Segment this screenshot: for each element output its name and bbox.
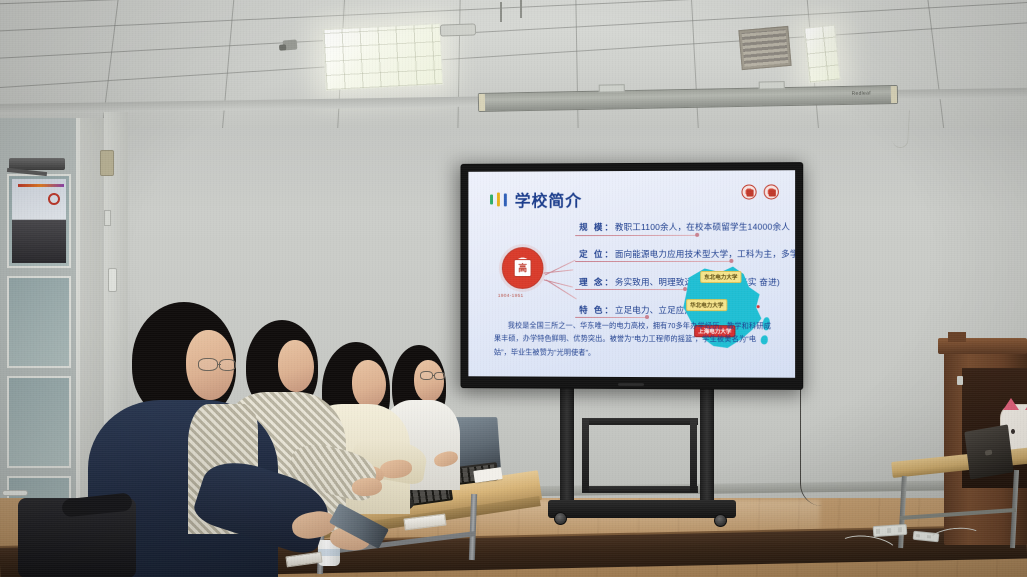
door-pane-top	[7, 174, 71, 268]
cart-side-rail	[582, 418, 589, 492]
cart-base	[548, 500, 736, 518]
cart-caster	[714, 514, 727, 527]
ceiling-camera	[283, 40, 298, 51]
laptop[interactable]	[964, 424, 1013, 479]
map-label-north: 华北电力大学	[686, 299, 727, 311]
bullet-label: 定 位：	[579, 249, 615, 259]
door-pane-mid	[7, 276, 71, 368]
slide-title-row: 学校简介	[490, 187, 582, 211]
door-handle[interactable]	[2, 490, 28, 496]
power-strip[interactable]	[873, 524, 908, 537]
eyeglasses	[198, 358, 218, 371]
screen-pull-cord[interactable]	[892, 110, 910, 149]
door-pane-low	[7, 376, 71, 468]
title-bar-yellow-icon	[497, 193, 500, 207]
university-seal: 高	[502, 247, 544, 289]
screen-brand-label: Redleaf	[852, 90, 871, 96]
ceiling-air-vent	[738, 26, 791, 70]
slide-corner-logos	[741, 184, 778, 199]
cart-caster	[554, 512, 567, 525]
presentation-slide: 学校简介 高 1904-1951	[468, 170, 795, 378]
display-brand-logo	[618, 383, 644, 386]
university-logo-icon	[741, 184, 756, 199]
slide-paragraph: 我校是全国三所之一、华东唯一的电力高校，拥有70多年办学经历。教学和科研成果丰硕…	[494, 319, 773, 360]
wall-socket[interactable]	[104, 210, 111, 226]
cart-crossbar	[582, 486, 698, 493]
ceiling-light-panel	[322, 23, 443, 91]
meeting-room-photo: Redleaf	[0, 0, 1027, 577]
wall-mounted-device	[100, 150, 114, 176]
bullet-label: 特 色：	[579, 305, 615, 315]
bullet-label: 规 模：	[579, 222, 615, 232]
eyeglasses	[434, 372, 445, 380]
cart-crossbar	[582, 418, 698, 425]
slide-title: 学校简介	[515, 187, 582, 211]
smoke-detector	[440, 23, 476, 36]
wall-display[interactable]: 学校简介 高 1904-1951	[461, 162, 804, 390]
partner-logo-icon	[764, 184, 779, 199]
map-label-northeast: 东北电力大学	[700, 271, 741, 283]
display-cable	[800, 206, 822, 506]
cart-side-rail	[690, 418, 697, 492]
slide-bullet: 规 模：教职工1100余人，在校本硕留学生14000余人	[579, 221, 790, 234]
light-switch[interactable]	[108, 268, 117, 292]
title-bar-green-icon	[490, 195, 493, 205]
seal-subtext: 1904-1951	[498, 293, 524, 298]
bullet-label: 理 念：	[579, 277, 615, 287]
cart-post	[700, 386, 714, 506]
cart-post	[560, 386, 574, 506]
eyeglasses	[219, 359, 236, 371]
lectern-button[interactable]	[957, 376, 963, 385]
bullet-text: 教职工1100余人，在校本硕留学生14000余人	[615, 222, 790, 232]
seal-core-text: 高	[514, 259, 532, 277]
lectern-notch	[948, 332, 966, 342]
ceiling-light-panel	[803, 24, 841, 83]
title-bar-blue-icon	[504, 193, 507, 206]
